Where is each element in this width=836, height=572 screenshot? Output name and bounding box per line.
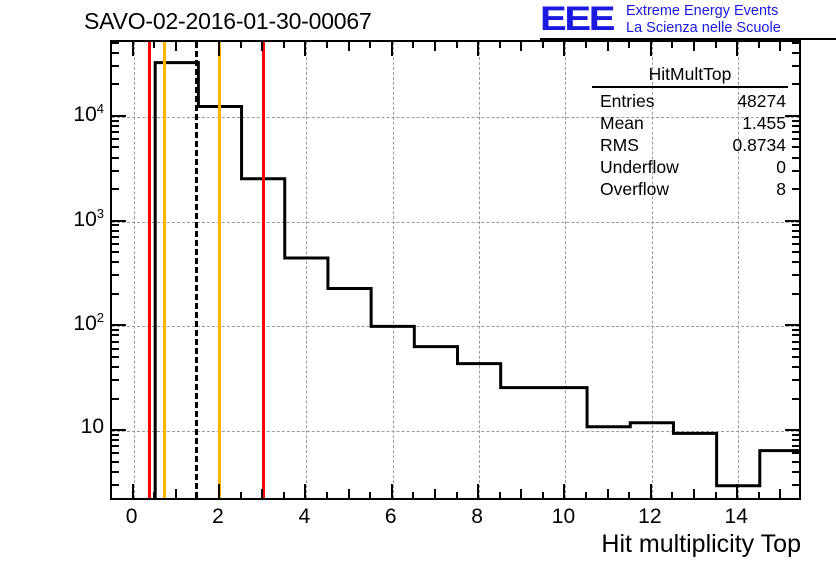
y-tick-label-0: 10 [26,415,104,439]
y-tick-right [792,379,799,381]
stats-row-key: Underflow [600,156,679,178]
x-tick-top [520,42,522,51]
y-tick-label-exponent: 3 [97,206,104,221]
x-tick-top [607,42,609,51]
x-tick-top [175,42,177,51]
y-tick-right [792,398,799,400]
y-tick-right [792,484,799,486]
x-tick-minor [348,489,350,498]
x-tick-top [132,42,134,56]
stats-rows: Entries48274Mean1.455RMS0.8734Underflow0… [592,90,788,200]
y-tick-minor [112,348,119,350]
y-tick-right [785,220,799,222]
x-tick-minor [585,492,587,498]
y-tick-minor [112,65,119,67]
x-tick-top [304,42,306,56]
y-tick-right [792,334,799,336]
x-tick-label-4: 8 [447,505,507,529]
x-tick-top [240,42,242,48]
x-tick-top [671,42,673,48]
y-tick-minor [112,484,119,486]
x-tick-minor [693,489,695,498]
x-tick-top [412,42,414,48]
x-tick-minor [628,492,630,498]
y-tick-major [112,115,126,117]
x-tick-top [693,42,695,51]
stats-row: Entries48274 [592,90,788,112]
y-tick-right [792,125,799,127]
x-tick-minor [758,492,760,498]
x-tick-top [563,42,565,56]
x-tick-minor [326,492,328,498]
x-tick-major [304,484,306,498]
y-tick-label-base: 10 [81,415,104,438]
stats-box-divider [592,86,788,88]
y-tick-minor [112,356,119,358]
y-tick-minor [112,188,119,190]
y-tick-minor [112,452,119,454]
y-tick-minor [112,120,119,122]
x-tick-minor [240,492,242,498]
x-tick-label-5: 10 [533,505,593,529]
x-tick-top [456,42,458,48]
x-tick-minor [412,492,414,498]
x-tick-top [542,42,544,48]
y-tick-right [792,366,799,368]
x-tick-minor [175,489,177,498]
x-tick-top [736,42,738,56]
y-tick-right [792,42,799,44]
y-tick-minor [112,261,119,263]
y-tick-right [792,341,799,343]
stats-row-key: RMS [600,134,639,156]
plot-canvas: SAVO-02-2016-01-30-00067 EEE Extreme Ene… [0,0,836,572]
y-tick-right [792,52,799,54]
stats-row-key: Entries [600,90,654,112]
y-tick-major [112,220,126,222]
y-tick-right [792,445,799,447]
x-tick-top [628,42,630,48]
x-tick-label-3: 6 [361,505,421,529]
x-tick-minor [499,492,501,498]
y-tick-minor [112,398,119,400]
y-tick-label-base: 10 [73,208,96,231]
x-tick-label-6: 12 [620,505,680,529]
x-tick-minor [283,492,285,498]
x-tick-major [218,484,220,498]
y-tick-right [792,65,799,67]
y-tick-minor [112,42,119,44]
y-tick-right [792,243,799,245]
mean-dashed [195,42,198,498]
y-tick-right [792,439,799,441]
y-tick-minor [112,52,119,54]
x-tick-minor [542,492,544,498]
y-tick-right [792,230,799,232]
x-tick-top [348,42,350,51]
y-tick-right [792,434,799,436]
y-tick-right [792,146,799,148]
y-tick-minor [112,341,119,343]
stats-box: HitMultTop Entries48274Mean1.455RMS0.873… [592,64,788,200]
x-tick-minor [369,492,371,498]
stats-row-value: 8 [776,178,786,200]
eee-logo-text: Extreme Energy Events La Scienza nelle S… [626,3,836,37]
y-tick-right [792,236,799,238]
y-tick-right [792,138,799,140]
y-tick-right [792,452,799,454]
y-tick-minor [112,379,119,381]
x-tick-top [499,42,501,48]
y-tick-right [792,261,799,263]
x-tick-top [779,42,781,51]
y-tick-label-base: 10 [73,312,96,335]
x-tick-top [434,42,436,51]
page-title: SAVO-02-2016-01-30-00067 [84,8,372,35]
stats-row-value: 1.455 [742,112,786,134]
y-tick-minor [112,471,119,473]
x-tick-minor [456,492,458,498]
x-tick-minor [520,489,522,498]
x-tick-minor [153,492,155,498]
stats-box-title: HitMultTop [592,64,788,86]
eee-logo-mark: EEE [540,2,613,36]
x-tick-top [218,42,220,56]
y-tick-right [792,471,799,473]
x-tick-top [715,42,717,48]
x-tick-minor [715,492,717,498]
y-tick-right [785,429,799,431]
cut-low-orange [163,42,166,498]
cut-high-orange [218,42,221,498]
y-tick-right [792,348,799,350]
y-tick-right [792,251,799,253]
eee-logo: EEE Extreme Energy Events La Scienza nel… [540,2,836,38]
y-tick-right [792,120,799,122]
stats-row: Mean1.455 [592,112,788,134]
x-tick-label-7: 14 [706,505,766,529]
x-tick-top [326,42,328,48]
x-tick-major [563,484,565,498]
x-tick-top [477,42,479,56]
y-tick-minor [112,170,119,172]
y-tick-minor [112,138,119,140]
y-tick-right [792,356,799,358]
y-tick-minor [112,366,119,368]
y-tick-minor [112,157,119,159]
y-tick-label-exponent: 4 [97,101,104,116]
y-tick-right [792,188,799,190]
y-tick-major [112,429,126,431]
x-tick-top [758,42,760,48]
y-tick-minor [112,224,119,226]
x-tick-top [585,42,587,48]
y-tick-right [792,293,799,295]
y-tick-label-2: 103 [26,206,104,232]
stats-row-value: 0 [776,156,786,178]
x-tick-major [650,484,652,498]
eee-logo-line1: Extreme Energy Events [626,3,836,20]
x-tick-top [261,42,263,51]
y-tick-right [792,83,799,85]
y-tick-minor [112,230,119,232]
y-tick-minor [112,274,119,276]
y-tick-label-1: 102 [26,310,104,336]
x-tick-top [391,42,393,56]
y-tick-right [792,131,799,133]
y-tick-label-exponent: 2 [97,310,104,325]
x-tick-minor [779,489,781,498]
y-tick-right [792,461,799,463]
y-tick-minor [112,251,119,253]
y-tick-right [792,224,799,226]
y-tick-minor [112,329,119,331]
y-tick-label-3: 104 [26,101,104,127]
y-tick-minor [112,334,119,336]
y-tick-major [112,324,126,326]
x-tick-minor [607,489,609,498]
x-tick-minor [196,492,198,498]
stats-row-key: Overflow [600,178,669,200]
cut-high-red [262,42,265,498]
y-tick-minor [112,146,119,148]
x-tick-minor [261,489,263,498]
cut-low-red [148,42,151,498]
y-tick-minor [112,439,119,441]
y-tick-minor [112,461,119,463]
stats-row-value: 0.8734 [732,134,786,156]
y-tick-right [792,329,799,331]
y-tick-minor [112,83,119,85]
x-tick-major [391,484,393,498]
x-axis-title: Hit multiplicity Top [601,530,801,559]
y-tick-minor [112,293,119,295]
x-tick-label-1: 2 [188,505,248,529]
x-tick-label-2: 4 [274,505,334,529]
x-tick-label-0: 0 [102,505,162,529]
y-tick-minor [112,434,119,436]
stats-row-value: 48274 [737,90,786,112]
eee-logo-line2: La Scienza nelle Scuole [626,20,836,37]
x-tick-top [369,42,371,48]
x-tick-top [196,42,198,48]
stats-row: RMS0.8734 [592,134,788,156]
y-tick-right [785,324,799,326]
x-tick-minor [434,489,436,498]
x-tick-top [650,42,652,56]
y-tick-right [792,170,799,172]
y-tick-label-base: 10 [73,103,96,126]
y-tick-minor [112,243,119,245]
x-tick-major [132,484,134,498]
y-tick-minor [112,125,119,127]
x-tick-top [283,42,285,48]
x-tick-major [477,484,479,498]
y-tick-minor [112,131,119,133]
x-tick-major [736,484,738,498]
stats-row-key: Mean [600,112,644,134]
y-tick-right [792,157,799,159]
y-tick-right [792,274,799,276]
y-tick-minor [112,445,119,447]
x-tick-minor [671,492,673,498]
y-tick-minor [112,236,119,238]
x-tick-top [153,42,155,48]
stats-row: Underflow0 [592,156,788,178]
stats-row: Overflow8 [592,178,788,200]
